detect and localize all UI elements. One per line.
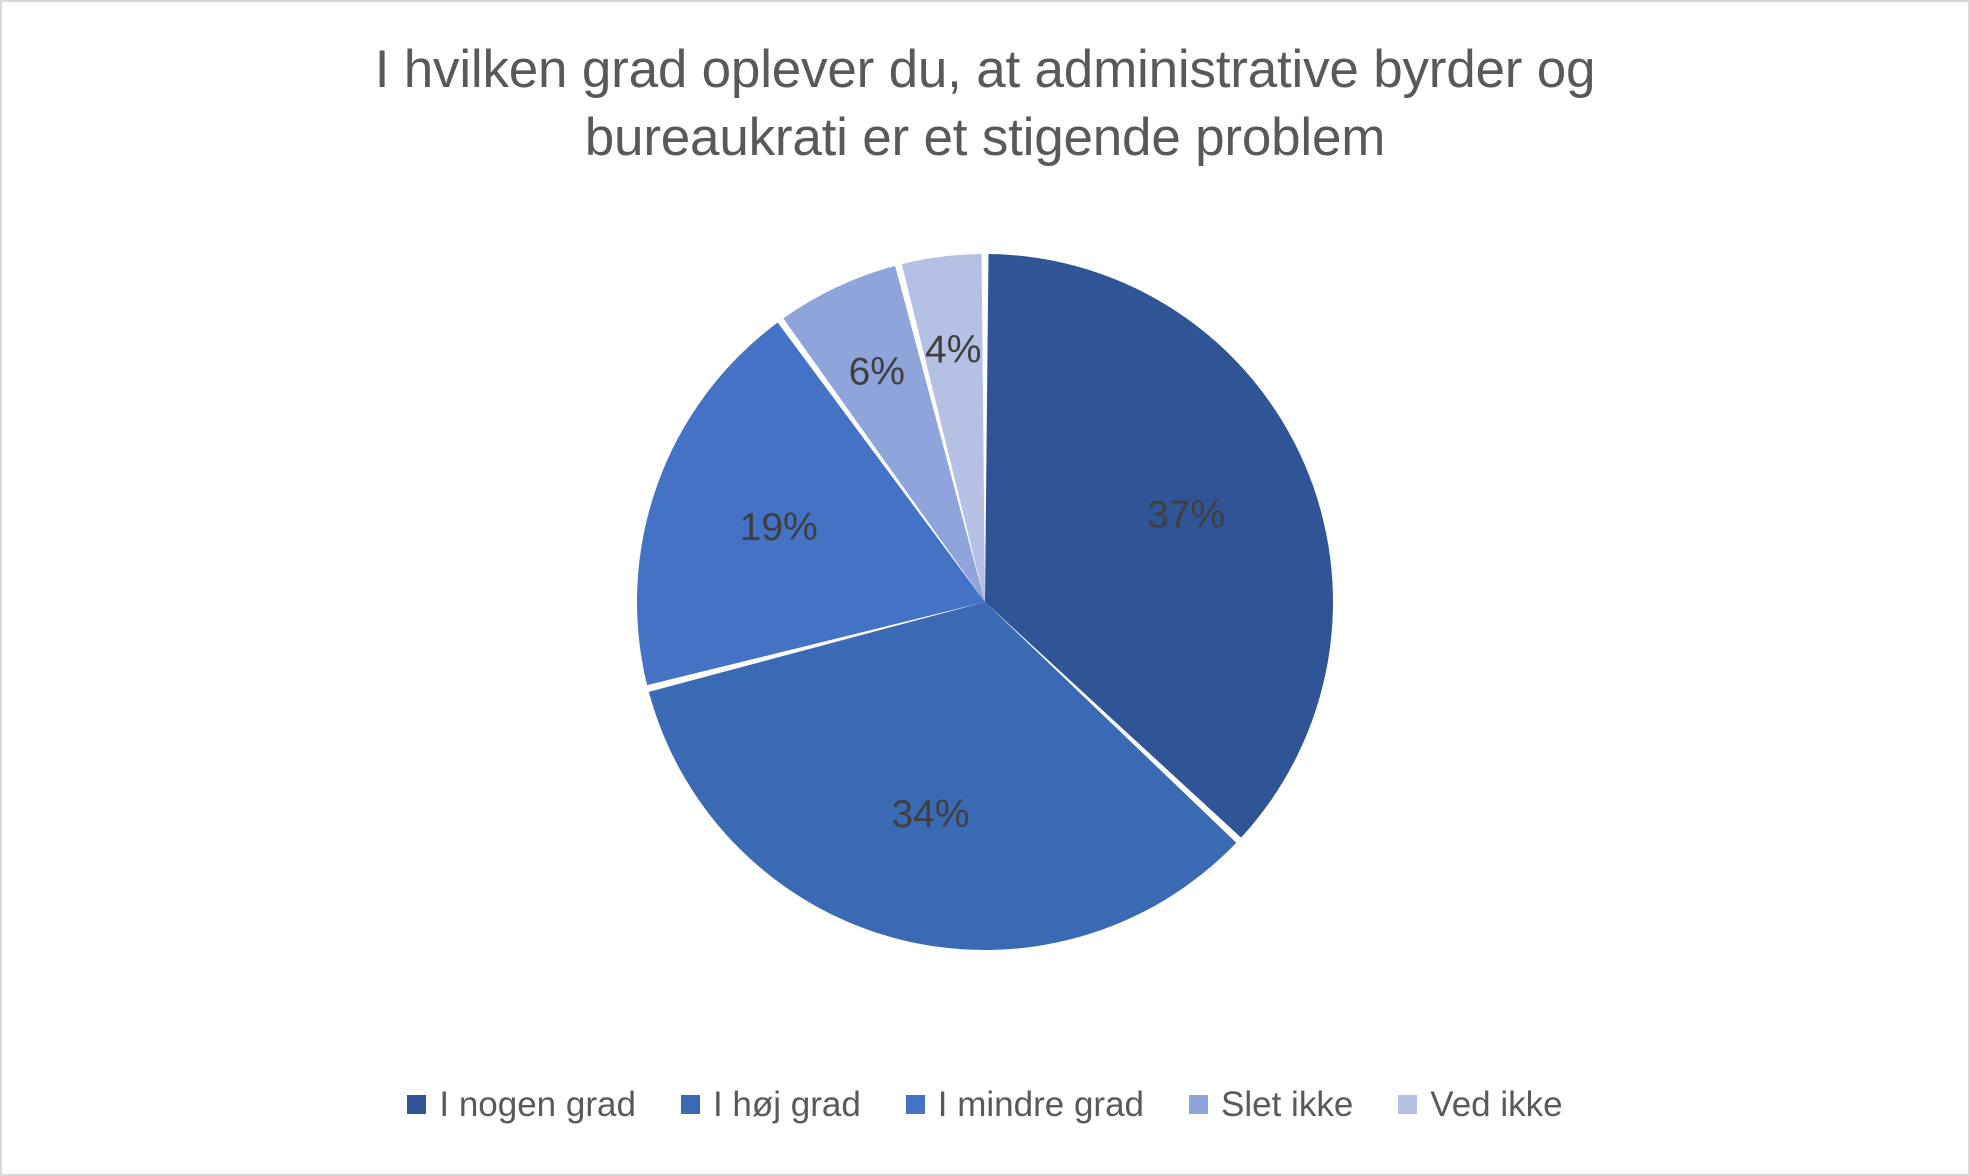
pie-data-label: 19% xyxy=(740,506,818,549)
legend-item[interactable]: I høj grad xyxy=(681,1087,861,1122)
chart-legend: I nogen gradI høj gradI mindre gradSlet … xyxy=(2,1087,1968,1122)
legend-swatch-icon xyxy=(906,1095,925,1114)
legend-label: Ved ikke xyxy=(1430,1087,1562,1122)
pie-data-label: 37% xyxy=(1147,493,1225,536)
legend-item[interactable]: I nogen grad xyxy=(407,1087,636,1122)
chart-container: I hvilken grad oplever du, at administra… xyxy=(0,0,1970,1176)
pie-data-label: 34% xyxy=(891,793,969,836)
legend-item[interactable]: Ved ikke xyxy=(1398,1087,1562,1122)
pie-slice-group xyxy=(637,254,1333,950)
legend-item[interactable]: Slet ikke xyxy=(1189,1087,1353,1122)
chart-title: I hvilken grad oplever du, at administra… xyxy=(2,36,1968,172)
pie-data-label: 4% xyxy=(925,329,981,372)
legend-label: I høj grad xyxy=(713,1087,861,1122)
pie-chart: 37%34%19%6%4% xyxy=(485,162,1485,1042)
legend-item[interactable]: I mindre grad xyxy=(906,1087,1144,1122)
legend-swatch-icon xyxy=(1398,1095,1417,1114)
legend-swatch-icon xyxy=(407,1095,426,1114)
legend-label: I nogen grad xyxy=(439,1087,636,1122)
pie-plot-area: 37%34%19%6%4% xyxy=(2,162,1968,1042)
legend-swatch-icon xyxy=(1189,1095,1208,1114)
legend-label: Slet ikke xyxy=(1221,1087,1353,1122)
legend-label: I mindre grad xyxy=(938,1087,1144,1122)
pie-data-label: 6% xyxy=(849,351,905,394)
legend-swatch-icon xyxy=(681,1095,700,1114)
